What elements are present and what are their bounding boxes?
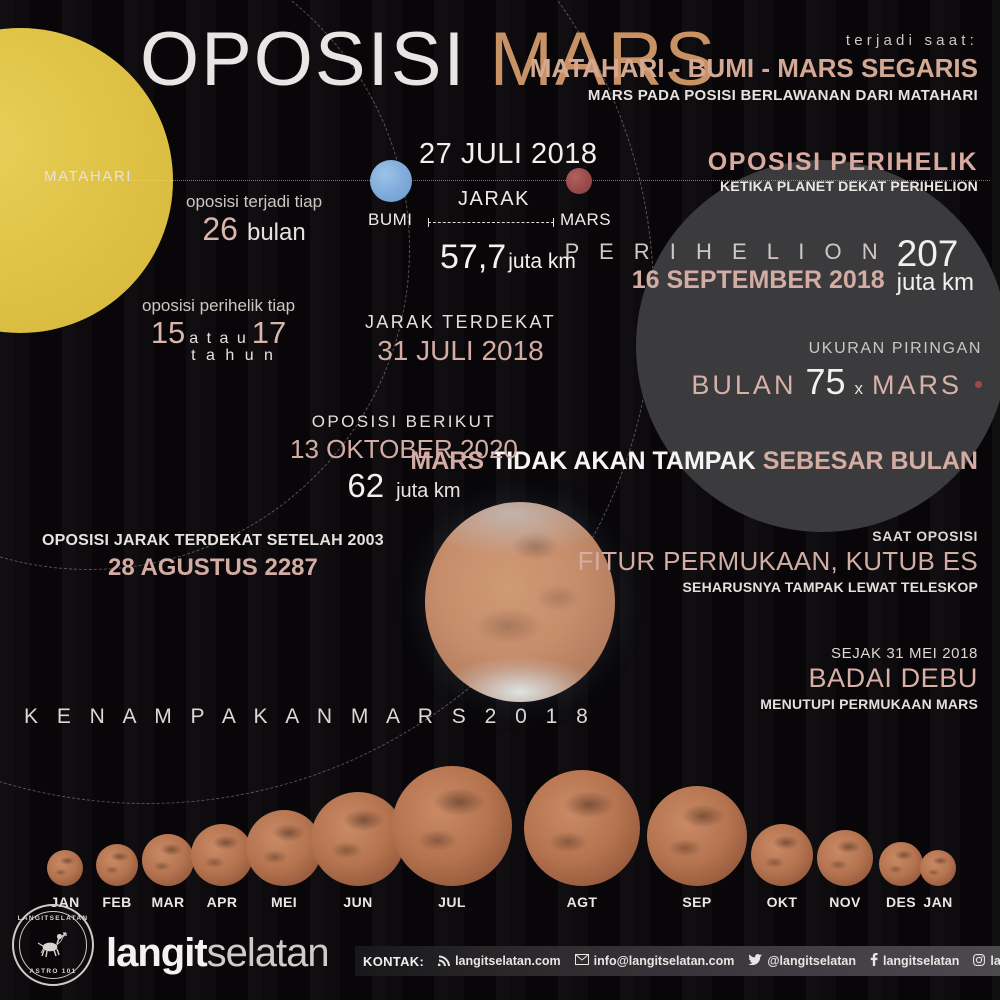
contact-link-label: @langitselatan (767, 954, 856, 968)
perihelic-frequency-block: oposisi perihelik tiap 15 a t a u 17 t a… (142, 296, 295, 365)
timeline-month: JUN (311, 792, 405, 910)
mars-dot-graphic (566, 168, 592, 194)
statement-part-3: SEBESAR BULAN (756, 447, 978, 475)
timeline-month-label: APR (191, 894, 253, 910)
closest-distance-label: JARAK TERDEKAT (365, 312, 556, 333)
timeline-month-label: JUL (392, 894, 512, 910)
disk-size-moon: BULAN (691, 370, 796, 401)
infographic-poster: MATAHARI OPOSISI MARS terjadi saat: MATA… (0, 0, 1000, 1000)
dust-storm-line-2: BADAI DEBU (760, 663, 978, 694)
timeline-month-label: JAN (920, 894, 956, 910)
next-opposition-label: OPOSISI BERIKUT (290, 412, 518, 432)
dust-storm-block: SEJAK 31 MEI 2018 BADAI DEBU MENUTUPI PE… (760, 645, 978, 712)
contact-link-label: langitselatan.com (455, 954, 561, 968)
distance-number: 57,7 (440, 238, 506, 277)
mars-disk-graphic (47, 850, 83, 886)
timeline-month: JAN (920, 850, 956, 910)
mars-disk-graphic (191, 824, 253, 886)
perihelion-distance-number: 207 (897, 236, 974, 271)
statement-part-2: TIDAK AKAN TAMPAK (491, 447, 756, 475)
wordmark-light: selatan (207, 931, 329, 975)
mars-disk-graphic (142, 834, 194, 886)
wordmark-bold: langit (106, 931, 207, 975)
contact-link[interactable]: langitselatanmedia (973, 954, 1000, 969)
next-opposition-date: 13 OKTOBER 2020 (290, 434, 518, 465)
timeline-month: NOV (817, 830, 873, 910)
earth-label: BUMI (368, 210, 413, 230)
timeline-month: OKT (751, 824, 813, 910)
contact-link-label: langitselatan (883, 954, 959, 968)
distance-value-group: 57,7 juta km (440, 238, 576, 277)
surface-line-3: SEHARUSNYA TAMPAK LEWAT TELESKOP (578, 579, 978, 595)
perihelion-distance-unit: juta km (897, 271, 974, 295)
contact-link[interactable]: @langitselatan (748, 954, 856, 969)
header-headline: MATAHARI - BUMI - MARS SEGARIS (530, 53, 978, 84)
badge-bottom-text: ASTRO 101 (14, 968, 92, 975)
mars-disk-graphic (392, 766, 512, 886)
mars-label: MARS (560, 210, 611, 230)
dust-storm-line-1: SEJAK 31 MEI 2018 (760, 645, 978, 662)
mars-disk-graphic (817, 830, 873, 886)
timeline-month: APR (191, 824, 253, 910)
contact-bar: KONTAK: langitselatan.cominfo@langitsela… (355, 946, 1000, 976)
timeline-month: DES (879, 842, 923, 910)
surface-features-block: SAAT OPOSISI FITUR PERMUKAAN, KUTUB ES S… (578, 528, 978, 595)
distance-label: JARAK (458, 188, 530, 211)
next-opposition-distance-unit: juta km (396, 480, 460, 503)
closest-after-2003-label: OPOSISI JARAK TERDEKAT SETELAH 2003 (42, 532, 384, 550)
surface-line-2: FITUR PERMUKAAN, KUTUB ES (578, 546, 978, 577)
footer: LANGITSELATAN ASTRO 101 langitselatan KO… (0, 916, 1000, 1000)
mars-apparent-size-timeline: JANFEBMARAPRMEIJUNJULAGTSEPOKTNOVDESJAN (0, 770, 1000, 910)
opposition-date: 27 JULI 2018 (419, 138, 598, 171)
earth-graphic (370, 160, 412, 202)
perihelic-frequency-number-2: 17 (252, 315, 286, 351)
header-subline: MARS PADA POSISI BERLAWANAN DARI MATAHAR… (530, 87, 978, 104)
instagram-icon (973, 954, 985, 969)
contact-link-label: info@langitselatan.com (594, 954, 735, 968)
timeline-month-label: NOV (817, 894, 873, 910)
timeline-month-label: AGT (524, 894, 640, 910)
distance-unit: juta km (508, 250, 576, 274)
timeline-month-label: DES (879, 894, 923, 910)
disk-size-mars: MARS (872, 370, 962, 401)
frequency-number: 26 (202, 211, 238, 248)
langitselatan-wordmark: langitselatan (106, 931, 329, 976)
surface-line-1: SAAT OPOSISI (578, 528, 978, 544)
contact-link[interactable]: langitselatan (870, 953, 959, 969)
timeline-month: AGT (524, 770, 640, 910)
disk-size-factor: 75 (805, 361, 845, 403)
closest-after-2003-date: 28 AGUSTUS 2287 (42, 554, 384, 582)
mars-small-dot-icon (975, 381, 982, 388)
next-opposition-distance-number: 62 (347, 467, 384, 505)
mars-disk-graphic (920, 850, 956, 886)
timeline-month: SEP (647, 786, 747, 910)
disk-size-block: UKURAN PIRINGAN BULAN 75 x MARS (691, 340, 982, 403)
mars-disk-graphic (879, 842, 923, 886)
perihelic-opposition-heading: OPOSISI PERIHELIK KETIKA PLANET DEKAT PE… (708, 148, 978, 194)
disk-size-label: UKURAN PIRINGAN (691, 340, 982, 358)
perihelic-frequency-caption: oposisi perihelik tiap (142, 296, 295, 316)
timeline-month: JAN (47, 850, 83, 910)
mars-disk-graphic (96, 844, 138, 886)
header-eyebrow: terjadi saat: (530, 32, 978, 49)
mars-disk-graphic (524, 770, 640, 886)
perihelic-title: OPOSISI PERIHELIK (708, 148, 978, 177)
timeline-month-label: JUN (311, 894, 405, 910)
disk-size-times: x (854, 379, 863, 399)
timeline-month: MAR (142, 834, 194, 910)
facebook-icon (870, 953, 878, 969)
closest-after-2003-block: OPOSISI JARAK TERDEKAT SETELAH 2003 28 A… (42, 532, 384, 582)
timeline-month: JUL (392, 766, 512, 910)
dust-storm-line-3: MENUTUPI PERMUKAAN MARS (760, 696, 978, 712)
next-opposition-block: OPOSISI BERIKUT 13 OKTOBER 2020 62 juta … (290, 412, 518, 505)
perihelion-date: 16 SEPTEMBER 2018 (565, 266, 885, 295)
contact-link-label: langitselatanmedia (990, 954, 1000, 968)
closest-distance-block: JARAK TERDEKAT 31 JULI 2018 (365, 312, 556, 367)
contact-link[interactable]: info@langitselatan.com (575, 954, 735, 968)
frequency-unit: bulan (247, 219, 306, 247)
contact-link[interactable]: langitselatan.com (438, 954, 561, 969)
rss-icon (438, 954, 450, 969)
mail-icon (575, 954, 589, 968)
perihelion-label: P E R I H E L I O N (565, 239, 885, 265)
header-block: terjadi saat: MATAHARI - BUMI - MARS SEG… (530, 32, 978, 104)
sun-label: MATAHARI (44, 168, 132, 185)
frequency-caption: oposisi terjadi tiap (186, 192, 322, 212)
opposition-frequency-block: oposisi terjadi tiap 26 bulan (186, 192, 322, 248)
timeline-title: K E N A M P A K A N M A R S 2 0 1 8 (24, 705, 594, 729)
title-part-oposisi: OPOSISI (140, 17, 467, 102)
mars-disk-graphic (311, 792, 405, 886)
perihelic-frequency-number-1: 15 (151, 315, 185, 351)
timeline-month-label: SEP (647, 894, 747, 910)
distance-measure-bar (428, 218, 554, 227)
perihelic-subtitle: KETIKA PLANET DEKAT PERIHELION (708, 178, 978, 194)
timeline-month-label: MAR (142, 894, 194, 910)
sagittarius-centaur-icon (33, 929, 73, 961)
langitselatan-badge-logo: LANGITSELATAN ASTRO 101 (12, 904, 94, 986)
mars-disk-graphic (647, 786, 747, 886)
badge-top-text: LANGITSELATAN (14, 915, 92, 922)
kontak-label: KONTAK: (363, 954, 424, 969)
perihelion-block: P E R I H E L I O N 16 SEPTEMBER 2018 20… (565, 236, 974, 295)
timeline-month-label: FEB (96, 894, 138, 910)
mars-disk-graphic (751, 824, 813, 886)
closest-distance-date: 31 JULI 2018 (365, 335, 556, 367)
twitter-icon (748, 954, 762, 969)
timeline-month: FEB (96, 844, 138, 910)
timeline-month-label: OKT (751, 894, 813, 910)
perihelic-frequency-conjunction: a t a u (185, 330, 251, 348)
